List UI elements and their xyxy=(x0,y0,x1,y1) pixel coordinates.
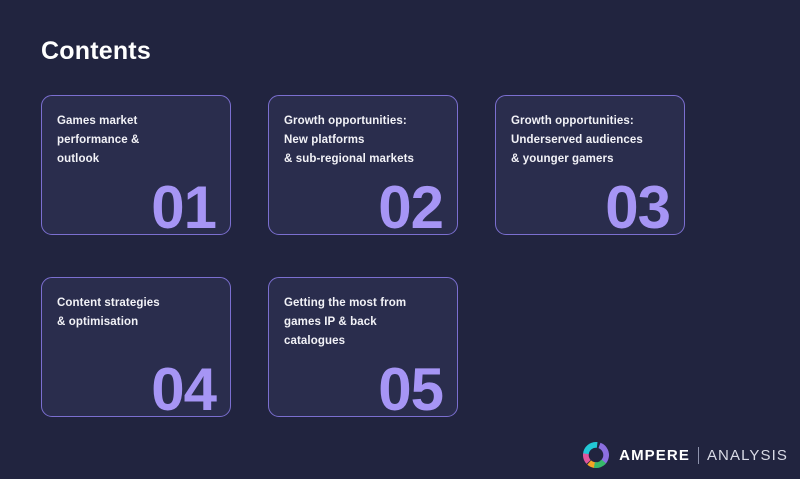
contents-card-number: 04 xyxy=(151,360,216,417)
logo-brand-text: AMPERE xyxy=(619,447,690,464)
contents-card-number: 03 xyxy=(605,178,670,235)
logo-divider xyxy=(698,447,699,464)
contents-card-01[interactable]: Games market performance & outlook 01 xyxy=(41,95,231,235)
contents-card-label: Getting the most from games IP & back ca… xyxy=(284,294,442,351)
ampere-donut-logo-icon xyxy=(583,442,609,468)
contents-card-label: Growth opportunities: Underserved audien… xyxy=(511,112,669,169)
contents-card-02[interactable]: Growth opportunities: New platforms & su… xyxy=(268,95,458,235)
slide-contents: Contents Games market performance & outl… xyxy=(0,0,800,479)
contents-row-2: Content strategies & optimisation 04 Get… xyxy=(41,277,686,417)
contents-card-04[interactable]: Content strategies & optimisation 04 xyxy=(41,277,231,417)
page-title: Contents xyxy=(41,38,151,66)
ampere-analysis-logo: AMPERE ANALYSIS xyxy=(583,442,788,468)
contents-card-03[interactable]: Growth opportunities: Underserved audien… xyxy=(495,95,685,235)
contents-card-05[interactable]: Getting the most from games IP & back ca… xyxy=(268,277,458,417)
contents-card-number: 02 xyxy=(378,178,443,235)
logo-wordmark: AMPERE ANALYSIS xyxy=(619,447,788,464)
contents-card-number: 05 xyxy=(378,360,443,417)
contents-card-label: Content strategies & optimisation xyxy=(57,294,215,332)
contents-card-label: Growth opportunities: New platforms & su… xyxy=(284,112,442,169)
contents-card-grid: Games market performance & outlook 01 Gr… xyxy=(41,95,686,417)
logo-product-text: ANALYSIS xyxy=(707,447,788,464)
contents-card-label: Games market performance & outlook xyxy=(57,112,215,169)
contents-card-number: 01 xyxy=(151,178,216,235)
contents-row-1: Games market performance & outlook 01 Gr… xyxy=(41,95,686,235)
